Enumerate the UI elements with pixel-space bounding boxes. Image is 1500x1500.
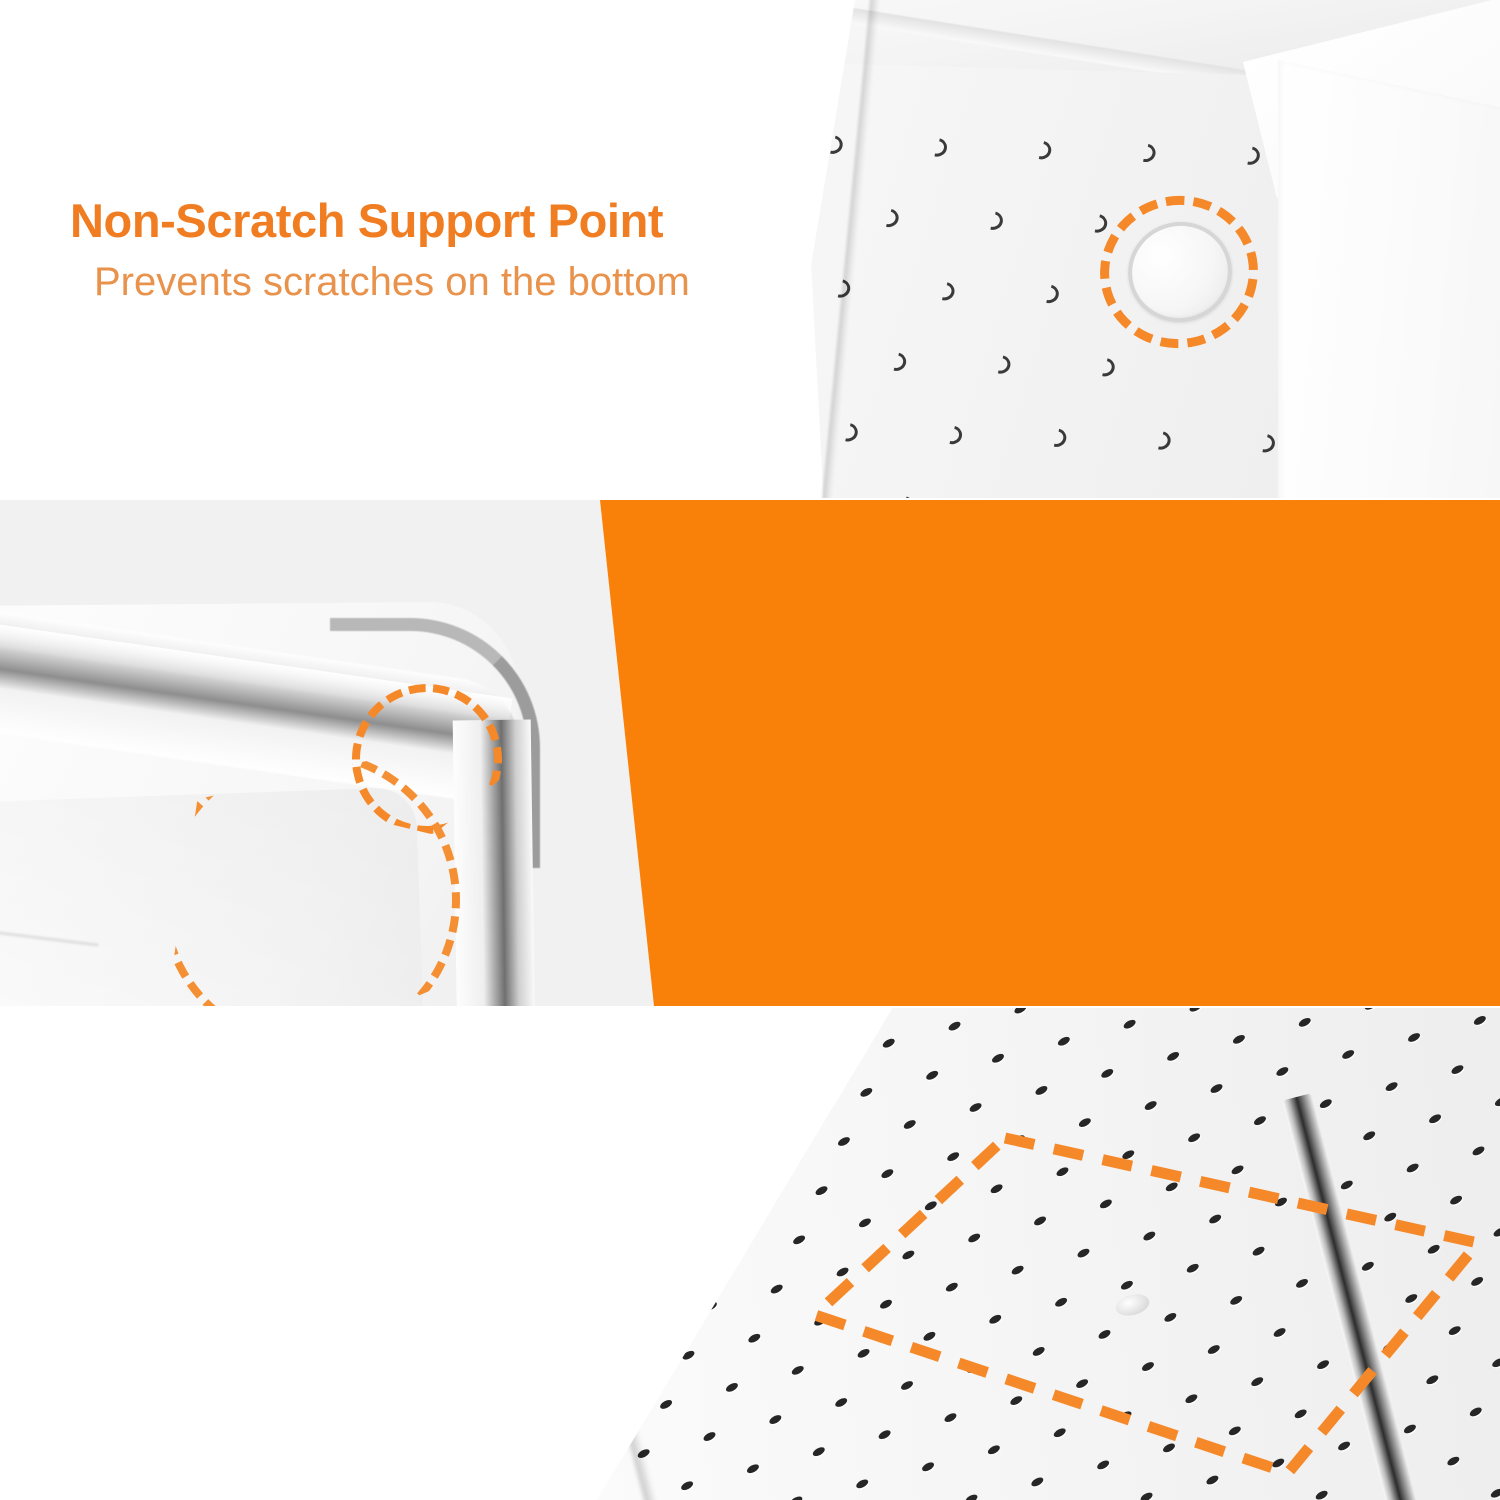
drain-hole [968,1101,983,1113]
drain-hole [939,422,966,447]
drain-hole [1250,1375,1265,1387]
drain-hole [1362,1130,1377,1142]
drain-hole [1143,1099,1158,1111]
drain-hole [1100,1067,1115,1079]
drain-hole [1449,1194,1464,1206]
drain-hole [1447,1324,1462,1336]
drain-hole [1034,1084,1049,1096]
drain-hole [987,1444,1002,1456]
drain-hole [1096,1459,1111,1471]
drain-hole [879,1298,894,1310]
drain-hole [1404,1292,1419,1304]
drain-hole [876,205,903,230]
drain-hole [922,1330,937,1342]
drain-hole [1318,1097,1333,1109]
drain-hole [1274,1196,1289,1208]
drain-hole [639,1186,654,1198]
panel-1-subtitle: Prevents scratches on the bottom [70,259,690,306]
drain-hole [1054,1296,1069,1308]
drain-hole [837,1135,852,1147]
drain-hole [1252,430,1279,455]
drain-hole [684,1088,699,1100]
drain-hole [965,1362,980,1374]
drain-hole [682,1219,697,1231]
drain-hole [1470,1275,1485,1287]
drain-hole [1492,1226,1500,1238]
drain-hole [1055,1166,1070,1178]
drain-hole [1205,1474,1220,1486]
drain-hole [1472,1014,1487,1026]
infographic-sheet: Non-Scratch Support Point Prevents scrat… [0,0,1500,1500]
drain-hole [881,1037,896,1049]
drain-hole [1043,425,1070,450]
drain-hole [1010,1264,1025,1276]
feature-panel-support-point: Non-Scratch Support Point Prevents scrat… [0,0,1500,498]
drain-hole [1031,1345,1046,1357]
drain-hole [725,1381,740,1393]
drain-hole [1206,1343,1221,1355]
drain-hole [1382,1341,1397,1353]
drain-hole [1471,1145,1486,1157]
drain-hole [659,1398,674,1410]
drain-hole [1184,1393,1199,1405]
drain-hole [1122,1018,1137,1030]
drain-hole [921,1461,936,1473]
drain-hole [1446,1455,1461,1467]
drain-hole [816,1054,831,1066]
drain-hole [771,1152,786,1164]
drain-hole [1230,1164,1245,1176]
drain-hole [1426,1243,1441,1255]
drain-hole [1209,1082,1224,1094]
drain-hole [858,1217,873,1229]
drain-hole [1253,1114,1268,1126]
drain-hole [995,496,1022,498]
drain-hole [1468,1406,1483,1418]
drain-hole [883,349,910,374]
drain-hole [793,1103,808,1115]
drain-hole [1077,1116,1092,1128]
drain-hole [859,1086,874,1098]
container-right-side [1278,60,1500,498]
drain-hole [1033,1215,1048,1227]
drain-hole [638,1317,653,1329]
drain-hole [746,1463,761,1475]
drain-hole [923,1200,938,1212]
drain-hole [748,1202,763,1214]
drain-hole [947,1020,962,1032]
drain-hole [1097,1328,1112,1340]
drain-hole [946,1150,961,1162]
feature-panel-pet-plastic: PET Plastic ultra-sturdy, so will not cr… [0,1008,1500,1500]
drain-hole [660,1268,675,1280]
drain-hole [1363,1008,1378,1012]
drain-hole [1052,1427,1067,1439]
drain-hole [1056,1035,1071,1047]
drain-hole [880,1167,895,1179]
drain-hole [980,208,1007,233]
drain-hole [573,1203,588,1215]
drain-hole [901,1249,916,1261]
drain-hole [704,1300,719,1312]
drain-hole [900,1379,915,1391]
drain-hole [617,1236,632,1248]
drain-hole [1188,1008,1203,1013]
feature-panel-round-corner: Round Corner Design Will not scratch the… [0,500,1500,1006]
drain-hole [988,1313,1003,1325]
drain-hole [813,1315,828,1327]
drain-hole [1405,1162,1420,1174]
drain-hole [1084,211,1111,236]
drain-hole [943,1411,958,1423]
drain-hole [680,1480,695,1492]
drain-hole [1163,1311,1178,1323]
drain-hole [1316,1358,1331,1370]
drain-hole [1092,354,1119,379]
pet-plastic-photo [0,1008,1500,1500]
drain-hole [769,1283,784,1295]
drain-hole [1118,1410,1133,1422]
drain-hole [1383,1211,1398,1223]
drain-hole [1121,1149,1136,1161]
drain-hole [1166,1050,1181,1062]
drain-hole [1314,1489,1329,1500]
drain-hole [705,1169,720,1181]
drain-hole [1425,1374,1440,1386]
drain-hole [1142,1230,1157,1242]
drain-hole [727,1120,742,1132]
drain-hole [702,1430,717,1442]
drain-hole [987,352,1014,377]
drain-hole [1295,1277,1310,1289]
drain-hole [964,1493,979,1500]
drain-hole [835,1266,850,1278]
drain-hole [931,278,958,303]
drain-hole [594,1285,609,1297]
drain-hole [1237,143,1264,168]
drain-hole [989,1183,1004,1195]
drain-hole [834,1396,849,1408]
drain-hole [1494,1096,1500,1108]
drain-hole [1030,1476,1045,1488]
drain-hole [1012,1133,1027,1145]
drain-hole [1227,1425,1242,1437]
drain-hole [814,1184,829,1196]
drain-hole [1208,1213,1223,1225]
drain-hole [747,1332,762,1344]
drain-hole [1162,1442,1177,1454]
drain-hole [1076,1247,1091,1259]
drain-hole [681,1349,696,1361]
drain-hole [1337,1440,1352,1452]
drain-hole [1075,1377,1090,1389]
drain-hole [615,1366,630,1378]
drain-hole [1450,1063,1465,1075]
drain-hole [1489,1487,1500,1499]
drain-hole [944,1281,959,1293]
drain-hole [1148,428,1175,453]
drain-hole [1407,1031,1422,1043]
drain-hole [991,1052,1006,1064]
drain-hole [1139,1491,1154,1500]
drain-hole [661,1137,676,1149]
drain-hole [596,1154,611,1166]
drain-hole [1341,1048,1356,1060]
drain-hole [924,135,951,160]
drain-hole [1099,1198,1114,1210]
drain-hole [1141,1360,1156,1372]
drain-hole [1360,1260,1375,1272]
drain-hole [1272,1326,1287,1338]
drain-hole [1293,1408,1308,1420]
tray-center-dimple [1114,1291,1152,1319]
drain-hole [1229,1294,1244,1306]
drain-hole [1275,1065,1290,1077]
drain-hole [820,132,847,157]
drain-hole [552,1122,567,1134]
drain-hole [877,1428,892,1440]
drain-hole [856,1347,871,1359]
drain-hole [792,1234,807,1246]
drain-hole [811,1445,826,1457]
drain-hole [1251,1245,1266,1257]
drain-hole [1297,1016,1312,1028]
panel-1-title: Non-Scratch Support Point [70,196,690,245]
drain-hole [1428,1113,1443,1125]
drain-hole [855,1478,870,1490]
drain-hole [1120,1279,1135,1291]
drain-hole [967,1232,982,1244]
drain-hole [1036,281,1063,306]
drain-hole [925,1069,940,1081]
drain-hole [1187,1132,1202,1144]
drain-hole [789,1495,804,1500]
drain-hole [902,1118,917,1130]
drain-hole [618,1105,633,1117]
drain-hole [1185,1262,1200,1274]
drain-hole [1403,1423,1418,1435]
drain-hole [1009,1394,1024,1406]
drain-hole [1384,1080,1399,1092]
drain-hole [790,1364,805,1376]
panel-1-caption: Non-Scratch Support Point Prevents scrat… [70,196,690,307]
drain-hole [1132,140,1159,165]
drain-hole [1271,1457,1286,1469]
drain-hole [1491,1357,1500,1369]
drain-hole [1028,137,1055,162]
drain-hole [726,1251,741,1263]
drain-hole [891,493,918,498]
drain-hole [750,1071,765,1083]
drain-hole [1164,1181,1179,1193]
drain-hole [768,1413,783,1425]
drain-hole [1339,1179,1354,1191]
drain-hole [1013,1008,1028,1015]
drain-hole [1232,1033,1247,1045]
